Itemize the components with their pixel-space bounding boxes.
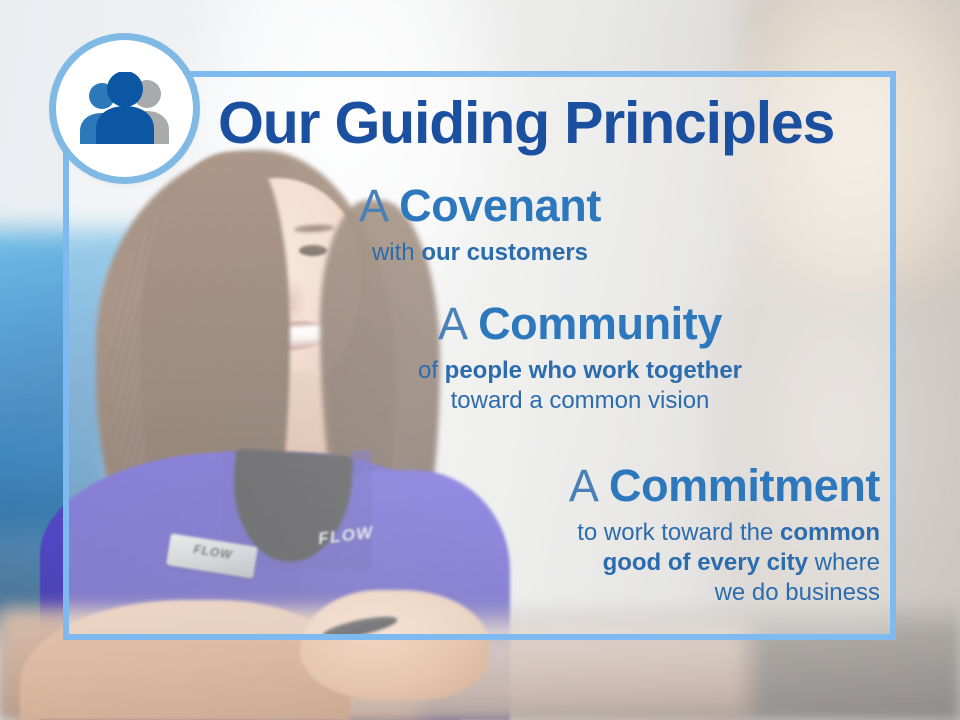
principle-subtext: of people who work togethertoward a comm… (330, 356, 830, 416)
people-group-icon (56, 40, 193, 177)
principle-commitment: A Commitment to work toward the commongo… (440, 462, 880, 608)
principle-article: A (438, 298, 466, 349)
principle-subtext-line: with our customers (270, 238, 690, 268)
principle-keyword: Commitment (609, 460, 880, 511)
principle-subtext-line: good of every city where (440, 548, 880, 578)
page-title: Our Guiding Principles (218, 94, 878, 153)
principle-subtext-line: toward a common vision (330, 386, 830, 416)
principle-subtext: with our customers (270, 238, 690, 268)
principle-article: A (569, 460, 597, 511)
principle-subtext-line: to work toward the common (440, 518, 880, 548)
principle-article: A (359, 180, 387, 231)
principle-subtext-line: we do business (440, 578, 880, 608)
principle-covenant: A Covenant with our customers (270, 182, 690, 268)
principle-keyword: Community (478, 298, 722, 349)
principle-headline: A Commitment (440, 462, 880, 510)
principle-subtext-line: of people who work together (330, 356, 830, 386)
principle-headline: A Community (330, 300, 830, 348)
principle-community: A Community of people who work togethert… (330, 300, 830, 416)
principle-headline: A Covenant (270, 182, 690, 230)
principle-subtext: to work toward the commongood of every c… (440, 518, 880, 609)
principle-keyword: Covenant (399, 180, 601, 231)
